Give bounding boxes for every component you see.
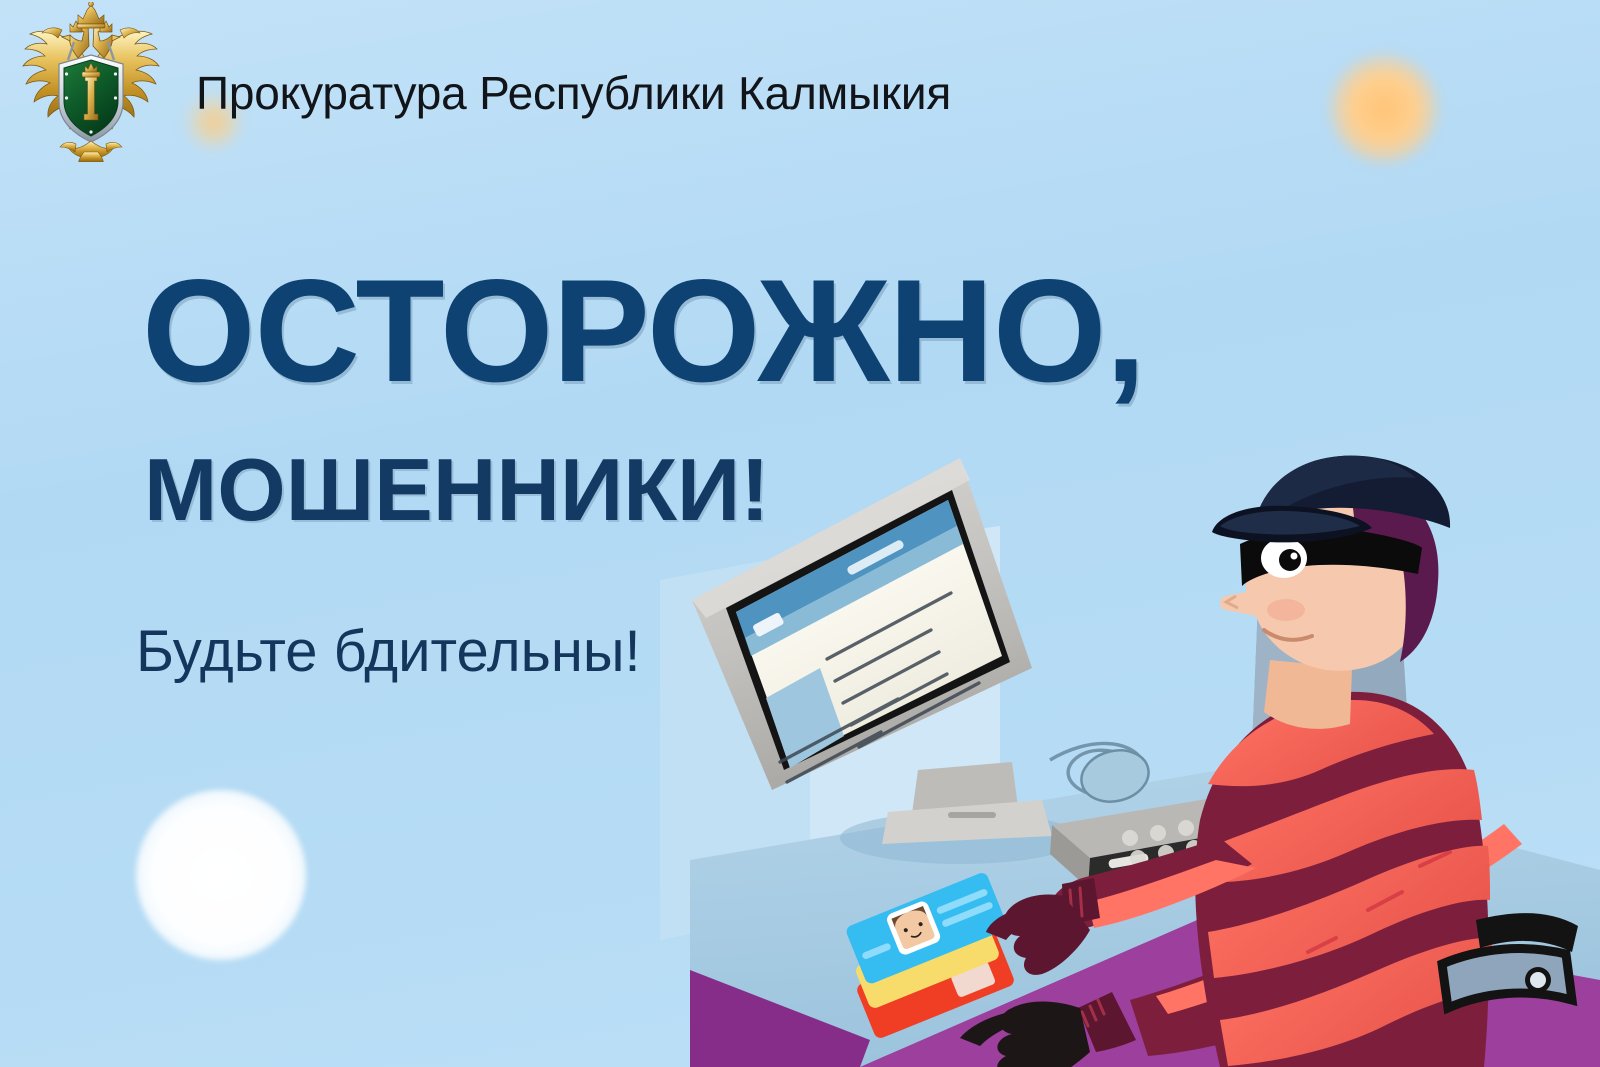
organization-title: Прокуратура Республики Калмыкия: [196, 66, 951, 120]
headline-primary: ОСТОРОЖНО,: [142, 258, 1145, 404]
russian-prosecutor-office-emblem: [18, 2, 164, 162]
subheadline: Будьте бдительны!: [136, 618, 641, 685]
cyber-thief-illustration: [660, 440, 1600, 1067]
poster-canvas: Прокуратура Республики Калмыкия ОСТОРОЖН…: [0, 0, 1600, 1067]
